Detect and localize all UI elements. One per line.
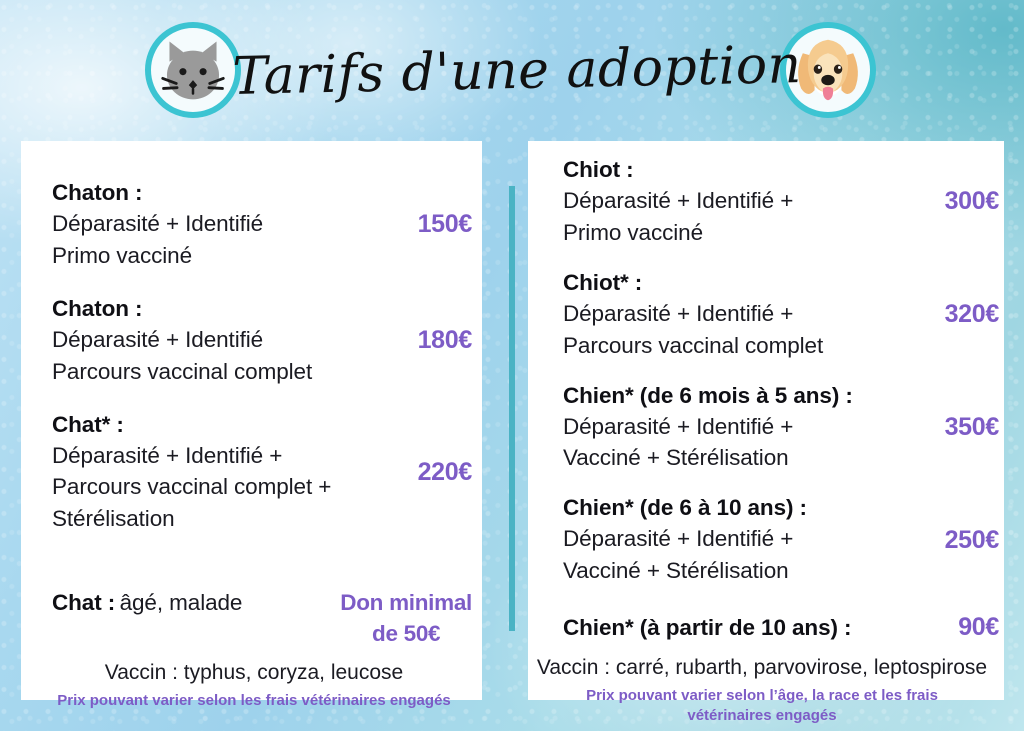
dog-disclaimer-line-2: vétérinaires engagés: [547, 706, 977, 726]
price-row-title: Chien* (à partir de 10 ans) :: [563, 615, 851, 640]
price-row-text: Chat* : Déparasité + Identifié + Parcour…: [52, 410, 331, 536]
price-row-chien-10ans-plus: Chien* (à partir de 10 ans) : 90€: [563, 613, 999, 643]
price-row-title: Chiot* :: [563, 268, 823, 298]
dog-price-list: Chiot : Déparasité + Identifié + Primo v…: [563, 155, 999, 643]
price-row-text: Chien* (à partir de 10 ans) :: [563, 613, 851, 643]
price-value: 90€: [958, 613, 999, 642]
price-row-text: Chaton : Déparasité + Identifié Primo va…: [52, 178, 263, 272]
price-row-detail: Déparasité + Identifié +: [563, 185, 793, 217]
price-row-chiot-complet: Chiot* : Déparasité + Identifié + Parcou…: [563, 268, 999, 362]
price-value: 320€: [945, 300, 999, 329]
price-row-detail: Parcours vaccinal complet: [563, 330, 823, 362]
cat-footer-notes: Vaccin : typhus, coryza, leucose Prix po…: [24, 660, 484, 711]
price-value: 150€: [418, 210, 472, 239]
price-row-detail: Parcours vaccinal complet: [52, 356, 312, 388]
price-row-text: Chaton : Déparasité + Identifié Parcours…: [52, 294, 312, 388]
price-row-title: Chien* (de 6 mois à 5 ans) :: [563, 381, 853, 411]
donation-line-1: Don minimal: [340, 588, 472, 618]
price-row-chat-age-malade: Chat : âgé, malade Don minimal de 50€: [52, 587, 472, 649]
price-row-chien-6mois-5ans: Chien* (de 6 mois à 5 ans) : Déparasité …: [563, 381, 999, 475]
price-row-title: Chaton :: [52, 178, 263, 208]
price-row-detail: Déparasité + Identifié: [52, 324, 312, 356]
cat-price-list: Chaton : Déparasité + Identifié Primo va…: [52, 178, 472, 649]
price-row-text: Chat : âgé, malade: [52, 587, 242, 619]
cat-vaccine-note: Vaccin : typhus, coryza, leucose: [24, 660, 484, 687]
dog-disclaimer-line-1: Prix pouvant varier selon l’âge, la race…: [547, 686, 977, 706]
price-row-title: Chiot :: [563, 155, 793, 185]
price-row-detail: Déparasité + Identifié +: [563, 523, 807, 555]
dog-vaccine-note: Vaccin : carré, rubarth, parvovirose, le…: [512, 655, 1012, 682]
dog-price-disclaimer: Prix pouvant varier selon l’âge, la race…: [547, 686, 977, 726]
cat-face-icon: [145, 22, 241, 118]
price-row-detail: Primo vacciné: [563, 217, 793, 249]
price-value: 220€: [418, 458, 472, 487]
price-value: 180€: [418, 326, 472, 355]
price-row-text: Chiot* : Déparasité + Identifié + Parcou…: [563, 268, 823, 362]
price-row-detail: Vacciné + Stérélisation: [563, 555, 807, 587]
column-divider: [509, 186, 515, 631]
price-row-detail: Vacciné + Stérélisation: [563, 442, 853, 474]
price-row-detail: Parcours vaccinal complet +: [52, 471, 331, 503]
price-row-text: Chien* (de 6 mois à 5 ans) : Déparasité …: [563, 381, 853, 475]
price-row-title: Chien* (de 6 à 10 ans) :: [563, 493, 807, 523]
price-row-chaton-primo: Chaton : Déparasité + Identifié Primo va…: [52, 178, 472, 272]
price-row-detail: Déparasité + Identifié +: [563, 411, 853, 443]
page-title: Tarifs d'une adoption: [271, 23, 763, 119]
dog-footer-notes: Vaccin : carré, rubarth, parvovirose, le…: [512, 655, 1012, 725]
price-row-detail: Déparasité + Identifié +: [563, 298, 823, 330]
price-row-chaton-complet: Chaton : Déparasité + Identifié Parcours…: [52, 294, 472, 388]
price-row-title: Chaton :: [52, 294, 312, 324]
price-value: 250€: [945, 526, 999, 555]
price-row-detail: Déparasité + Identifié +: [52, 440, 331, 472]
donation-line-2: de 50€: [340, 619, 472, 649]
price-row-detail: Primo vacciné: [52, 240, 263, 272]
adoption-pricing-poster: Tarifs d'une adoption Chaton : Déparasit…: [0, 0, 1024, 731]
price-row-text: Chien* (de 6 à 10 ans) : Déparasité + Id…: [563, 493, 807, 587]
poster-header: Tarifs d'une adoption: [0, 0, 1024, 140]
price-row-title: Chat* :: [52, 410, 331, 440]
price-row-chien-6-10ans: Chien* (de 6 à 10 ans) : Déparasité + Id…: [563, 493, 999, 587]
price-row-chiot-primo: Chiot : Déparasité + Identifié + Primo v…: [563, 155, 999, 249]
cat-price-disclaimer: Prix pouvant varier selon les frais vété…: [24, 691, 484, 711]
price-row-detail: Déparasité + Identifié: [52, 208, 263, 240]
price-value: 350€: [945, 413, 999, 442]
price-row-chat-adulte: Chat* : Déparasité + Identifié + Parcour…: [52, 410, 472, 536]
price-value-donation: Don minimal de 50€: [340, 588, 472, 649]
price-row-text: Chiot : Déparasité + Identifié + Primo v…: [563, 155, 793, 249]
price-row-detail: Stérélisation: [52, 503, 331, 535]
price-value: 300€: [945, 187, 999, 216]
price-row-title: Chat :: [52, 590, 115, 615]
price-row-detail: âgé, malade: [120, 590, 243, 615]
